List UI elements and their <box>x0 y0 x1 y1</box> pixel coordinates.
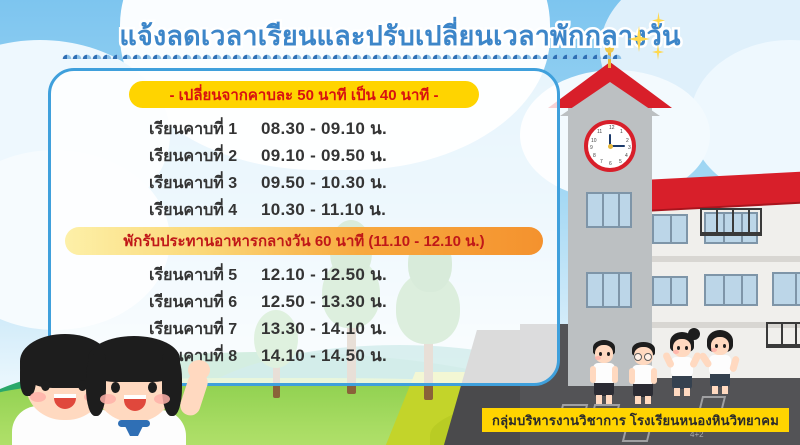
tower-roof-inner <box>560 82 660 116</box>
change-banner: - เปลี่ยนจากคาบละ 50 นาที เป็น 40 นาที - <box>129 81 479 108</box>
period-label: เรียนคาบที่ 2 <box>51 144 261 169</box>
student-playground-4 <box>702 330 738 394</box>
table-row: เรียนคาบที่ 6 12.50 - 13.30 น. <box>51 288 557 315</box>
change-banner-label: - เปลี่ยนจากคาบละ 50 นาที เป็น 40 นาที - <box>170 83 439 107</box>
period-time: 08.30 - 09.10 น. <box>261 115 387 142</box>
student-playground-1 <box>586 340 620 404</box>
window <box>704 274 758 306</box>
title-underline <box>62 50 622 59</box>
lunch-banner: พักรับประทานอาหารกลางวัน 60 นาที (11.10 … <box>65 227 543 255</box>
poster-canvas: 7+6 4+2 12 1 2 3 4 5 6 7 <box>0 0 800 445</box>
floor-divider <box>640 256 800 262</box>
raised-hand <box>188 360 210 380</box>
collar-band <box>118 420 150 427</box>
window <box>652 276 688 306</box>
footer-credit-label: กลุ่มบริหารงานวิชาการ โรงเรียนหนองหินวิท… <box>492 410 779 431</box>
period-label: เรียนคาบที่ 6 <box>51 290 261 315</box>
period-label: เรียนคาบที่ 5 <box>51 263 261 288</box>
period-time: 12.50 - 13.30 น. <box>261 288 387 315</box>
period-label: เรียนคาบที่ 3 <box>51 171 261 196</box>
balcony-rail <box>700 208 762 236</box>
period-time: 13.30 - 14.10 น. <box>261 315 387 342</box>
window <box>586 192 632 228</box>
period-time: 14.10 - 14.50 น. <box>261 342 387 369</box>
tower-clock: 12 1 2 3 4 5 6 7 8 9 10 11 <box>584 120 636 172</box>
period-label: เรียนคาบที่ 4 <box>51 198 261 223</box>
balcony-rail <box>766 322 800 348</box>
student-playground-2 <box>626 342 660 404</box>
period-time: 12.10 - 12.50 น. <box>261 261 387 288</box>
footer-credit: กลุ่มบริหารงานวิชาการ โรงเรียนหนองหินวิท… <box>482 408 789 432</box>
window <box>772 272 800 306</box>
table-row: เรียนคาบที่ 1 08.30 - 09.10 น. <box>51 115 557 142</box>
table-row: เรียนคาบที่ 3 09.50 - 10.30 น. <box>51 169 557 196</box>
period-time: 09.50 - 10.30 น. <box>261 169 387 196</box>
table-row: เรียนคาบที่ 2 09.10 - 09.50 น. <box>51 142 557 169</box>
student-playground-3 <box>664 332 700 396</box>
period-label: เรียนคาบที่ 1 <box>51 117 261 142</box>
window <box>586 272 632 308</box>
morning-period-list: เรียนคาบที่ 1 08.30 - 09.10 น. เรียนคาบท… <box>51 115 557 223</box>
lunch-banner-label: พักรับประทานอาหารกลางวัน 60 นาที (11.10 … <box>123 229 484 253</box>
table-row: เรียนคาบที่ 4 10.30 - 11.10 น. <box>51 196 557 223</box>
window <box>652 214 688 244</box>
period-time: 09.10 - 09.50 น. <box>261 142 387 169</box>
period-time: 10.30 - 11.10 น. <box>261 196 386 223</box>
table-row: เรียนคาบที่ 5 12.10 - 12.50 น. <box>51 261 557 288</box>
student-girl-left <box>76 332 206 445</box>
